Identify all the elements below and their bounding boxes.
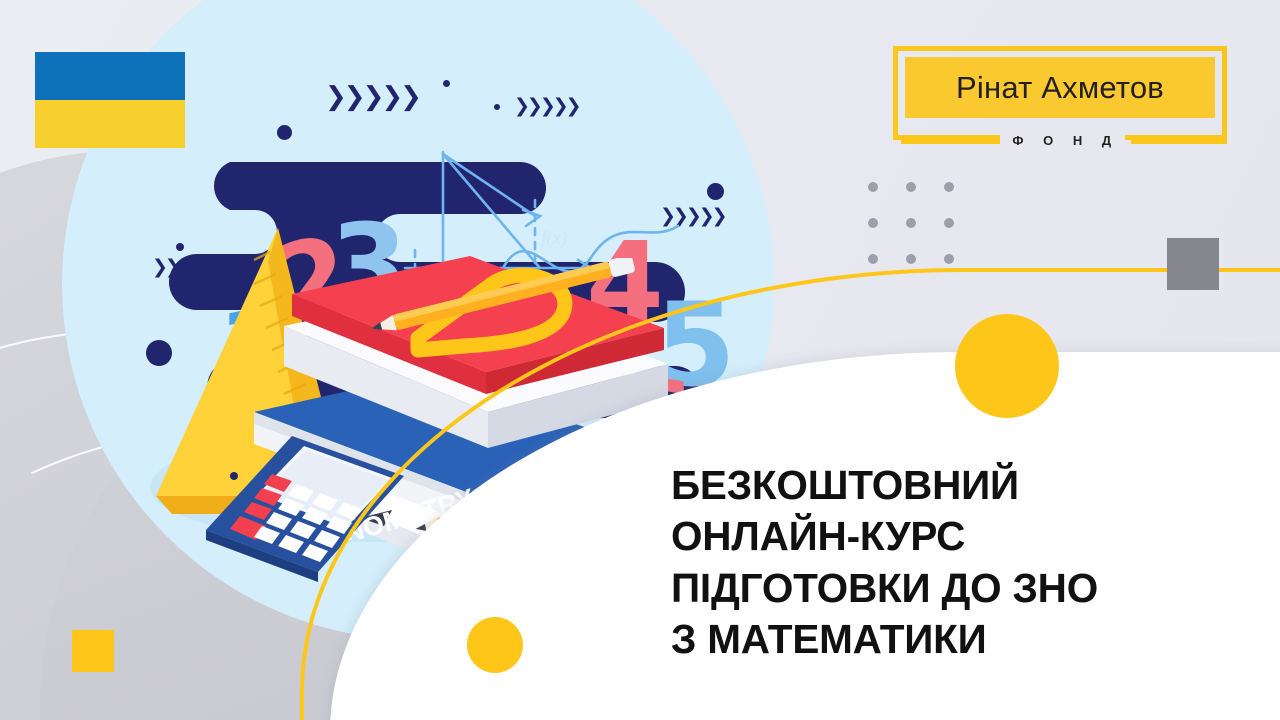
decor-dot <box>443 80 450 87</box>
headline-line-1: БЕЗКОШТОВНИЙ <box>671 460 1251 511</box>
ukraine-flag <box>35 52 185 148</box>
pencil-icon-top <box>352 258 652 338</box>
grid-dot <box>906 218 916 228</box>
headline-line-3: ПІДГОТОВКИ ДО ЗНО <box>671 563 1251 614</box>
logo-name-text: Рінат Ахметов <box>956 70 1164 106</box>
grid-dot <box>868 182 878 192</box>
logo-bottom-row: Ф О Н Д <box>893 131 1227 149</box>
logo-fill: Рінат Ахметов <box>905 57 1215 118</box>
logo-bar-right <box>1131 137 1227 144</box>
grid-dot <box>906 254 916 264</box>
flag-stripe-yellow <box>35 100 185 148</box>
poster-canvas: ❯❯❯❯❯ ❯❯❯❯❯ ❯❯❯❯❯ ❯❯❯❯❯ f(x) 2 3 4 <box>0 0 1280 720</box>
yellow-square-decor <box>72 630 114 672</box>
chevron-icon: ❯❯❯❯❯ <box>514 95 579 117</box>
decor-dot <box>707 183 724 200</box>
foundation-logo[interactable]: Рінат Ахметов Ф О Н Д <box>893 46 1227 140</box>
grid-dot <box>944 182 954 192</box>
headline-line-2: ОНЛАЙН-КУРС <box>671 511 1251 562</box>
chevron-icon: ❯❯❯❯❯ <box>325 82 419 112</box>
grid-dot <box>868 254 878 264</box>
yellow-circle-large <box>955 314 1059 418</box>
logo-bar-left <box>901 137 1000 144</box>
yellow-circle-small <box>467 617 523 673</box>
grid-dot <box>944 254 954 264</box>
decor-dot <box>277 125 292 140</box>
headline-line-4: З МАТЕМАТИКИ <box>671 614 1251 665</box>
grid-dot <box>906 182 916 192</box>
page-title: БЕЗКОШТОВНИЙ ОНЛАЙН-КУРС ПІДГОТОВКИ ДО З… <box>671 460 1251 666</box>
logo-subtitle: Ф О Н Д <box>1000 133 1125 148</box>
dot-grid-decor <box>868 182 996 292</box>
decor-dot <box>494 104 500 110</box>
flag-stripe-blue <box>35 52 185 100</box>
grid-dot <box>868 218 878 228</box>
grid-dot <box>944 218 954 228</box>
grey-square-decor <box>1167 238 1219 290</box>
